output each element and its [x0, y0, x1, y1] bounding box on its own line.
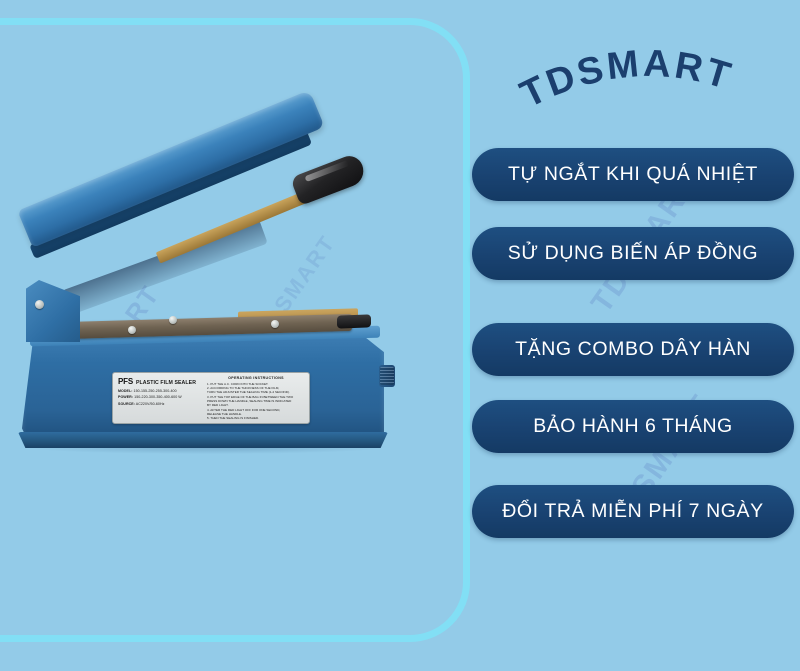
brand-wordmark: TDSMART: [470, 38, 790, 138]
brand-name-text: TDSMART: [514, 43, 738, 117]
spec-key: MODEL:: [118, 389, 132, 393]
spec-value: 150-155-250-255-300-400: [134, 389, 177, 393]
feature-badge-1[interactable]: TỰ NGẮT KHI QUÁ NHIỆT: [472, 148, 794, 201]
spec-label-brandline: PFS PLASTIC FILM SEALER: [118, 377, 205, 386]
sealer-base-foot: [18, 432, 388, 448]
feature-badge-label: ĐỔI TRẢ MIỄN PHÍ 7 NGÀY: [502, 500, 764, 523]
pivot-rivet: [35, 300, 44, 309]
instructions-heading: OPERATING INSTRUCTIONS: [207, 376, 305, 380]
brand-name: TDSMART: [514, 43, 738, 117]
spec-label-title: PLASTIC FILM SEALER: [136, 380, 196, 386]
spec-label: PFS PLASTIC FILM SEALER MODEL: 150-155-2…: [112, 372, 310, 424]
arm-rivet: [169, 316, 177, 324]
timer-knob-ridges: [380, 367, 394, 385]
product-poster: TDSMART TDSMART TDSMART TDSMART TDSMART: [0, 0, 800, 671]
handle-grip: [290, 152, 368, 206]
spec-key: SOURCE:: [118, 402, 135, 406]
spec-row: MODEL: 150-155-250-255-300-400: [118, 389, 205, 393]
spec-key: POWER:: [118, 395, 133, 399]
feature-badge-label: TỰ NGẮT KHI QUÁ NHIỆT: [508, 163, 758, 186]
spec-value: AC220V/50-60Hz: [136, 402, 165, 406]
feature-badge-5[interactable]: ĐỔI TRẢ MIỄN PHÍ 7 NGÀY: [472, 485, 794, 538]
spec-row: SOURCE: AC220V/50-60Hz: [118, 402, 205, 406]
product-image: PFS PLASTIC FILM SEALER MODEL: 150-155-2…: [8, 140, 408, 470]
impulse-sealer-illustration: PFS PLASTIC FILM SEALER MODEL: 150-155-2…: [8, 140, 408, 470]
seal-bar-rivet: [128, 326, 136, 334]
instruction-line: 5. THEN THE SEALING IS FINISHED.: [207, 416, 305, 420]
feature-badge-label: TẶNG COMBO DÂY HÀN: [515, 338, 751, 361]
spec-label-left: PFS PLASTIC FILM SEALER MODEL: 150-155-2…: [113, 373, 205, 423]
base-end-clip: [337, 314, 371, 328]
feature-badge-label: SỬ DỤNG BIẾN ÁP ĐỒNG: [508, 242, 758, 265]
seal-bar-rivet: [271, 320, 279, 328]
spec-value: 150-220-300-350-400-600 W: [134, 395, 182, 399]
spec-label-right: OPERATING INSTRUCTIONS 1. PUT THE A.C. C…: [205, 373, 309, 423]
spec-row: POWER: 150-220-300-350-400-600 W: [118, 395, 205, 399]
feature-badge-4[interactable]: BẢO HÀNH 6 THÁNG: [472, 400, 794, 453]
feature-badge-label: BẢO HÀNH 6 THÁNG: [533, 415, 732, 438]
spec-label-brand: PFS: [118, 377, 133, 386]
feature-badge-3[interactable]: TẶNG COMBO DÂY HÀN: [472, 323, 794, 376]
feature-badge-2[interactable]: SỬ DỤNG BIẾN ÁP ĐỒNG: [472, 227, 794, 280]
